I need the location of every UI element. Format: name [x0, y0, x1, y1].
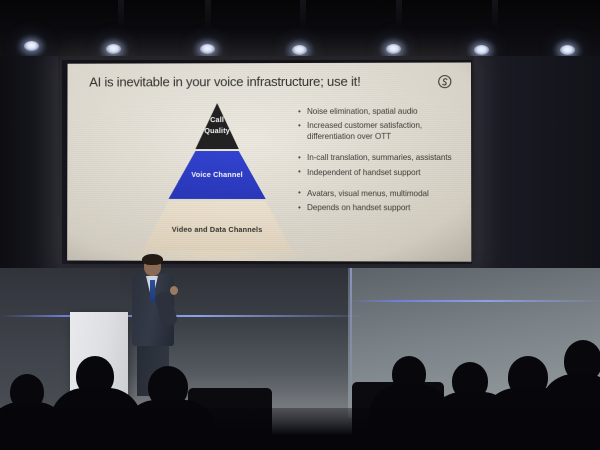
circle-slash-logo-icon: [437, 74, 453, 90]
speaker-hair: [142, 254, 163, 265]
pyramid-tier-top-label: Call Quality: [204, 115, 230, 136]
slide-title: AI is inevitable in your voice infrastru…: [89, 74, 408, 90]
ceiling-truss: [300, 0, 306, 30]
pyramid-tier-base-label: Video and Data Channels: [172, 225, 263, 236]
ceiling-spotlight-icon: [560, 45, 575, 55]
stage-accent-line: [0, 315, 360, 317]
bullet-item: Depends on handset support: [298, 203, 459, 214]
bullet-group-top: Noise elimination, spatial audio Increas…: [298, 107, 459, 144]
pyramid-tier-mid-label: Voice Channel: [191, 170, 243, 181]
slide-bullet-list: Noise elimination, spatial audio Increas…: [298, 107, 459, 218]
ceiling-spotlight-icon: [292, 45, 307, 55]
pyramid-tier-mid: Voice Channel: [142, 151, 292, 199]
foreground-shadow: [0, 408, 600, 450]
bullet-group-mid: In-call translation, summaries, assistan…: [298, 153, 459, 178]
pyramid-diagram: Video and Data Channels Voice Channel Ca…: [142, 103, 292, 251]
bullet-item: Noise elimination, spatial audio: [298, 107, 459, 118]
bullet-item: In-call translation, summaries, assistan…: [298, 153, 459, 164]
ceiling-spotlight-icon: [474, 45, 489, 55]
back-wall-right-edge: [474, 56, 600, 268]
stage-accent-line: [350, 300, 600, 302]
bullet-item: Avatars, visual menus, multimodal: [298, 189, 459, 200]
ceiling-truss: [118, 0, 124, 30]
ceiling-spotlight-icon: [106, 44, 121, 54]
bullet-item: Increased customer satisfaction, differe…: [298, 121, 459, 143]
bullet-item: Independent of handset support: [298, 168, 459, 179]
ceiling-truss: [205, 0, 211, 30]
conference-stage-photo: AI is inevitable in your voice infrastru…: [0, 0, 600, 450]
speaker-hand: [170, 286, 178, 295]
presentation-slide: AI is inevitable in your voice infrastru…: [67, 62, 471, 261]
pyramid-tier-top: Call Quality: [143, 103, 292, 149]
ceiling-spotlight-icon: [24, 41, 39, 51]
ceiling-spotlight-icon: [386, 44, 401, 54]
ceiling-truss: [396, 0, 402, 30]
back-wall-left-edge: [0, 56, 58, 268]
pyramid-tier-base: Video and Data Channels: [142, 201, 292, 251]
ceiling-spotlight-icon: [200, 44, 215, 54]
audience-silhouettes: [0, 330, 600, 450]
bullet-group-base: Avatars, visual menus, multimodal Depend…: [298, 189, 459, 215]
ceiling: [0, 0, 600, 62]
ceiling-truss: [492, 0, 498, 30]
